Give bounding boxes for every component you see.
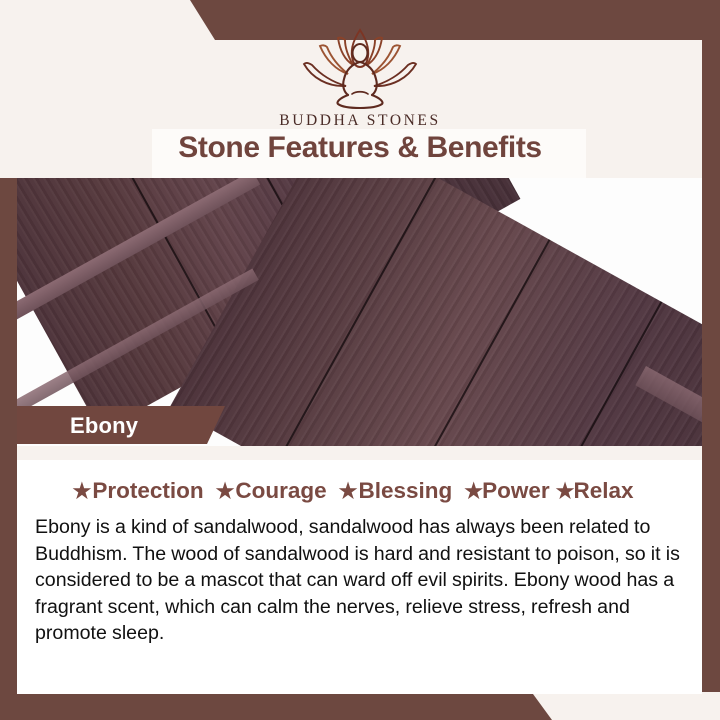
star-icon: ★: [216, 480, 235, 503]
right-border-strip: [702, 0, 720, 692]
benefit-item-power: ★Power: [460, 478, 549, 503]
benefit-label: Relax: [573, 478, 633, 503]
benefit-label: Blessing: [359, 478, 453, 503]
star-icon: ★: [72, 480, 91, 503]
product-photo: [0, 178, 720, 446]
brand-logo: BUDDHA STONES: [0, 24, 720, 130]
brand-name: BUDDHA STONES: [279, 112, 440, 130]
page-title: Stone Features & Benefits: [0, 131, 720, 165]
star-icon: ★: [339, 480, 358, 503]
benefit-label: Power: [482, 478, 550, 503]
content-section: ★Protection★Courage★Blessing★Power★Relax…: [17, 446, 702, 694]
benefit-label: Protection: [92, 478, 203, 503]
infographic-page: BUDDHA STONES Stone Features & Benefits …: [0, 0, 720, 720]
bottom-banner-bar: [0, 694, 720, 720]
left-border-strip: [0, 178, 17, 720]
benefit-item-courage: ★Courage: [212, 478, 327, 503]
star-icon: ★: [556, 480, 575, 503]
lotus-meditation-icon: [290, 24, 430, 110]
star-icon: ★: [464, 480, 483, 503]
content-top-strip: [17, 446, 702, 460]
benefits-list: ★Protection★Courage★Blessing★Power★Relax: [17, 478, 685, 504]
description-text: Ebony is a kind of sandalwood, sandalwoo…: [35, 514, 685, 647]
product-name-label: Ebony: [70, 413, 138, 439]
benefit-item-protection: ★Protection: [68, 478, 203, 503]
benefit-item-relax: ★Relax: [552, 478, 634, 503]
benefit-item-blessing: ★Blessing: [335, 478, 453, 503]
benefit-label: Courage: [235, 478, 326, 503]
